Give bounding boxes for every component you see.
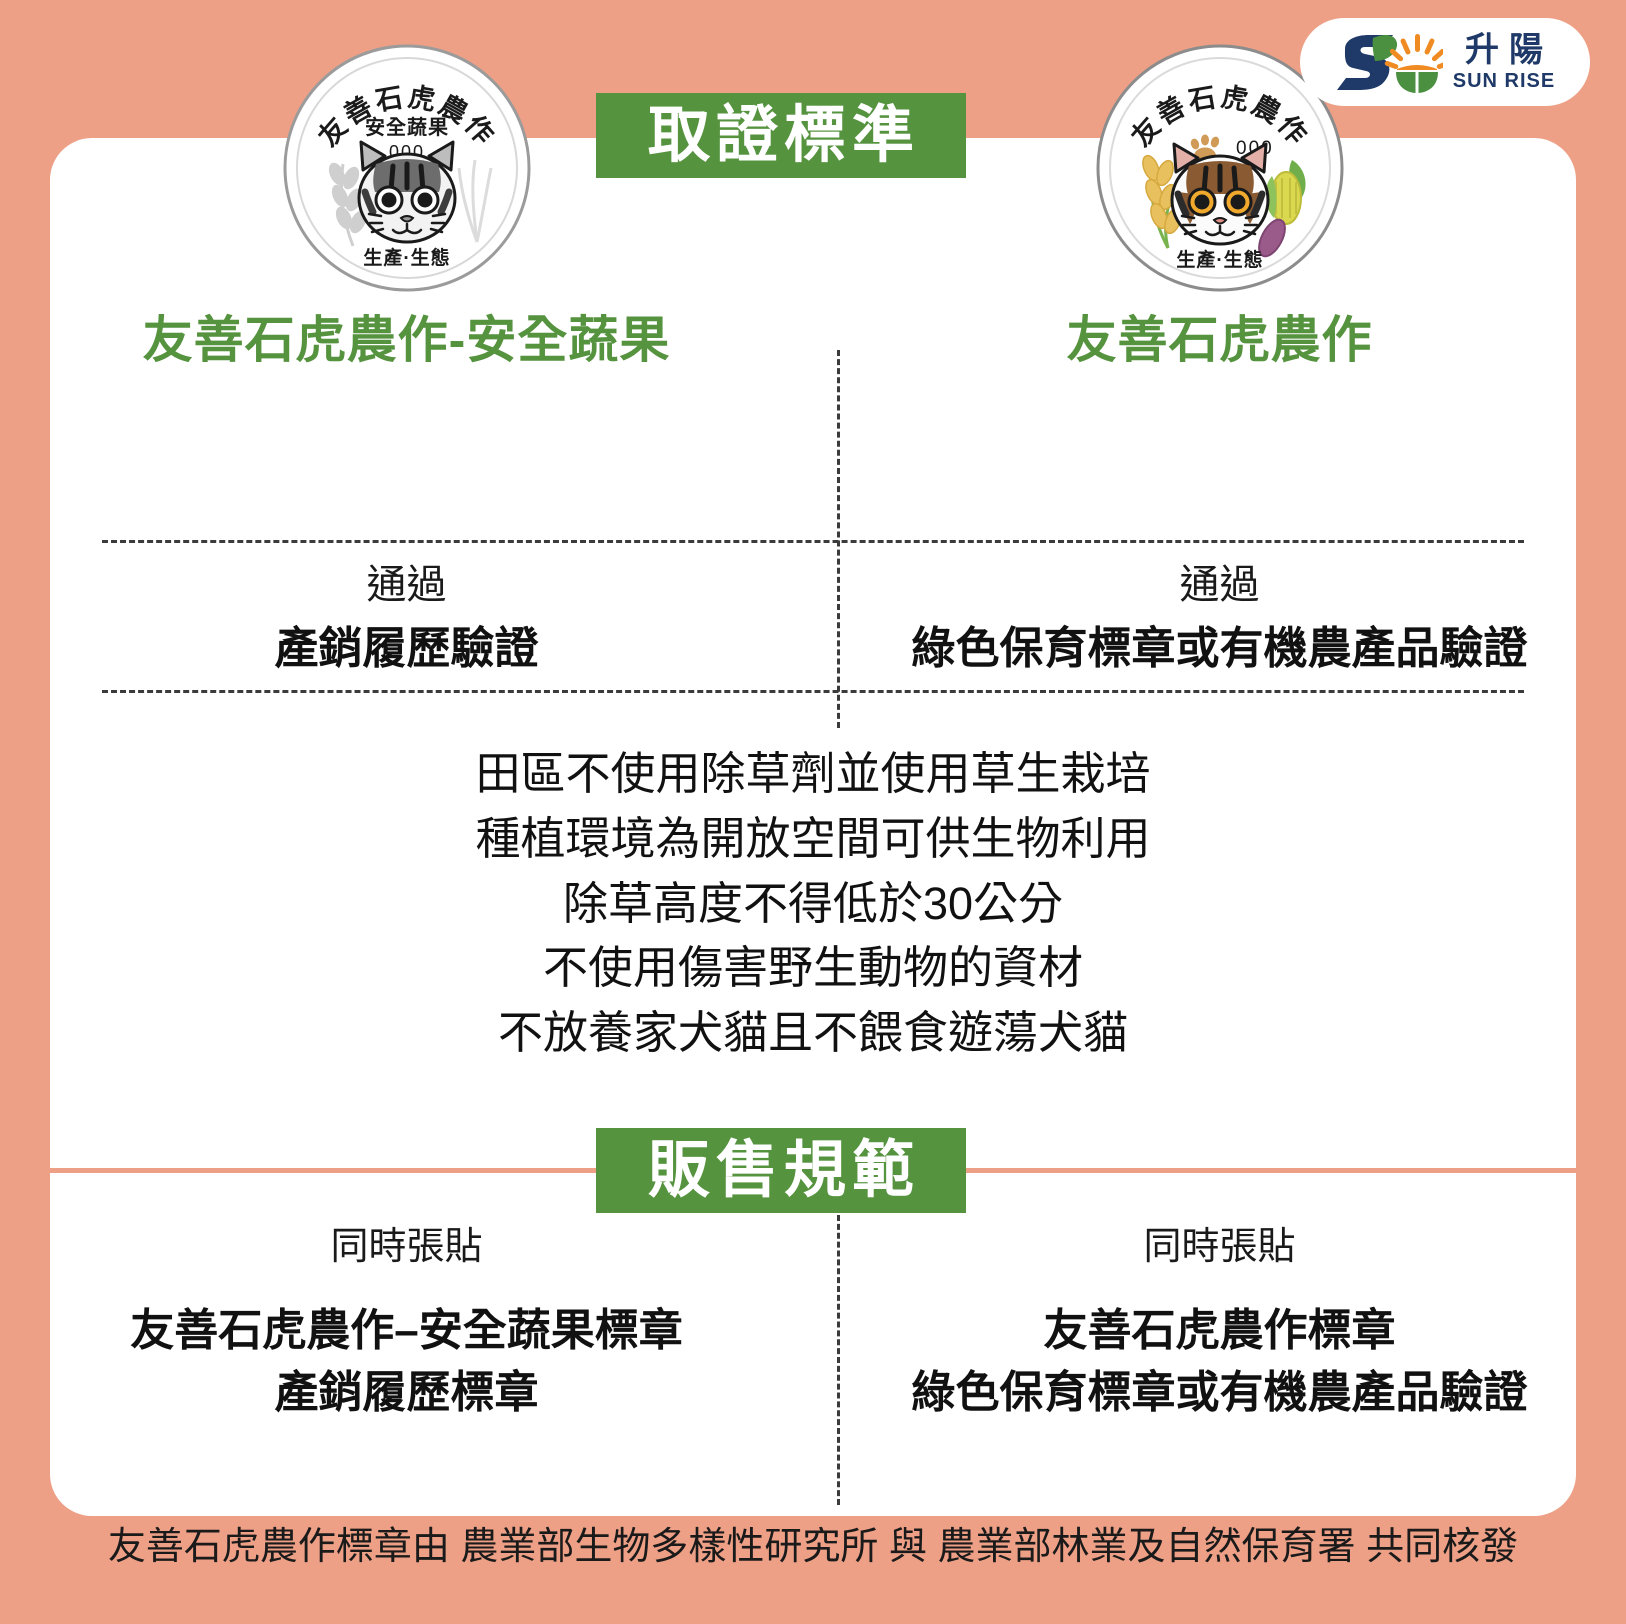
sunrise-logo-mark <box>1335 31 1443 93</box>
criteria-item: 田區不使用除草劑並使用草生栽培 <box>50 742 1576 807</box>
sell-lines-right: 友善石虎農作標章 綠色保育標章或有機農產品驗證 <box>863 1300 1576 1425</box>
sell-line: 產銷履歷標章 <box>50 1362 763 1424</box>
vertical-divider-bottom <box>837 1215 840 1505</box>
certification-title-left: 友善石虎農作-安全蔬果 <box>50 315 763 365</box>
criteria-item: 種植環境為開放空間可供生物利用 <box>50 807 1576 872</box>
criteria-list: 田區不使用除草劑並使用草生栽培 種植環境為開放空間可供生物利用 除草高度不得低於… <box>50 742 1576 1066</box>
brand-wordmark: 升陽 SUN RISE <box>1453 33 1555 91</box>
horizontal-divider-upper <box>102 540 1524 543</box>
svg-text:生產·生態: 生產·生態 <box>1176 248 1263 271</box>
sell-line: 友善石虎農作–安全蔬果標章 <box>50 1300 763 1362</box>
sell-line: 綠色保育標章或有機農產品驗證 <box>863 1362 1576 1424</box>
pass-value-right: 綠色保育標章或有機農產品驗證 <box>863 625 1576 673</box>
brand-logo: 升陽 SUN RISE <box>1300 18 1590 106</box>
sell-label-left: 同時張貼 <box>50 1228 763 1266</box>
pass-label-right: 通過 <box>863 565 1576 605</box>
friendly-leopard-cat-safe-produce-seal-icon: 友善石虎農作 安全蔬果 000 <box>281 42 533 294</box>
brand-name-en: SUN RISE <box>1453 71 1555 91</box>
svg-text:安全蔬果: 安全蔬果 <box>365 115 449 139</box>
pass-value-left: 產銷履歷驗證 <box>50 625 763 673</box>
criteria-item: 除草高度不得低於30公分 <box>50 872 1576 937</box>
vertical-divider-top <box>837 350 840 728</box>
sell-label-right: 同時張貼 <box>863 1228 1576 1266</box>
sell-lines-left: 友善石虎農作–安全蔬果標章 產銷履歷標章 <box>50 1300 763 1425</box>
sell-line: 友善石虎農作標章 <box>863 1300 1576 1362</box>
selling-banner: 販售規範 <box>596 1128 966 1213</box>
pass-label-left: 通過 <box>50 565 763 605</box>
certification-banner: 取證標準 <box>596 93 966 178</box>
brand-name-cn: 升陽 <box>1455 33 1553 67</box>
issuing-authority-note: 友善石虎農作標章由 農業部生物多樣性研究所 與 農業部林業及自然保育署 共同核發 <box>0 1528 1626 1566</box>
criteria-item: 不使用傷害野生動物的資材 <box>50 936 1576 1001</box>
horizontal-divider-lower <box>102 690 1524 693</box>
svg-text:生產·生態: 生產·生態 <box>363 246 450 269</box>
criteria-item: 不放養家犬貓且不餵食遊蕩犬貓 <box>50 1001 1576 1066</box>
certification-title-right: 友善石虎農作 <box>863 315 1576 365</box>
